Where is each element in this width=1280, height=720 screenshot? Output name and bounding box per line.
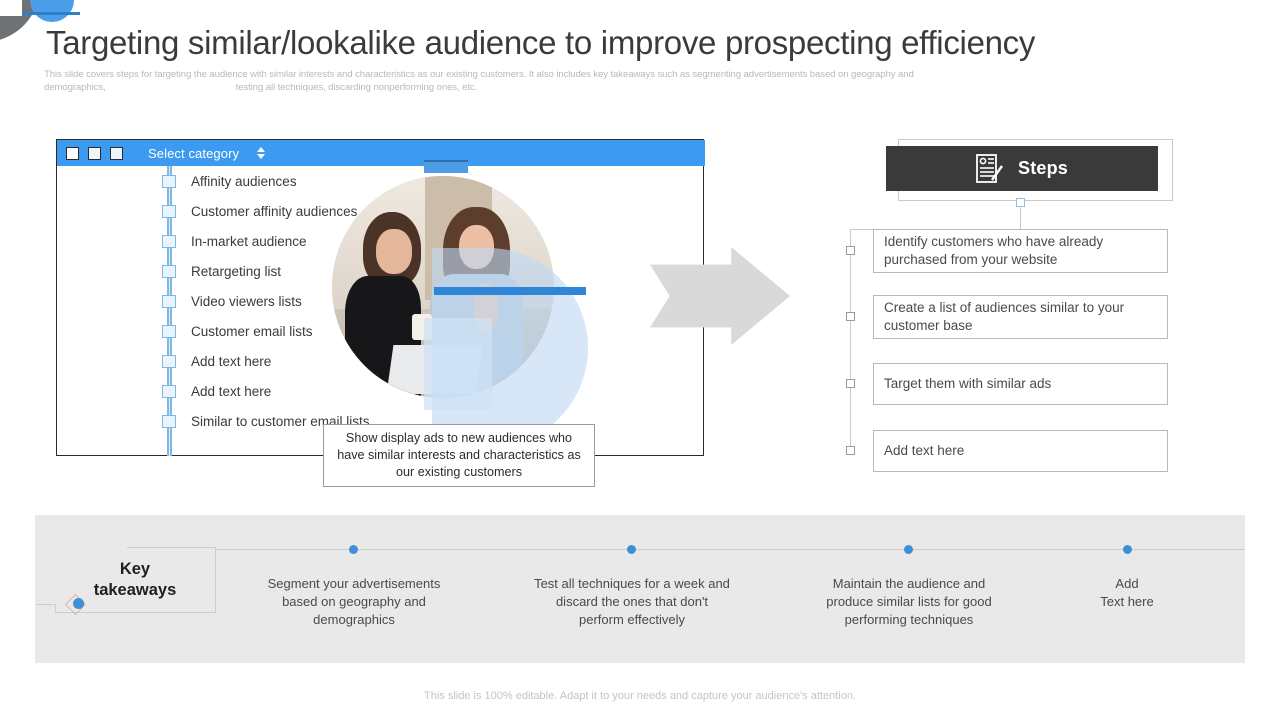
list-item-label: Retargeting list bbox=[191, 264, 281, 279]
kt-badge-line2: takeaways bbox=[94, 581, 177, 599]
list-item-label: Affinity audiences bbox=[191, 174, 297, 189]
kt-frame-right bbox=[215, 547, 216, 612]
checkbox-2[interactable] bbox=[88, 147, 101, 160]
footer-note: This slide is 100% editable. Adapt it to… bbox=[0, 690, 1280, 702]
subtitle-line-1: This slide covers steps for targeting th… bbox=[44, 69, 914, 80]
steps-header: Steps bbox=[886, 146, 1158, 191]
kt-dot bbox=[627, 545, 636, 554]
list-item-checkbox[interactable] bbox=[162, 295, 176, 308]
kt-dot bbox=[349, 545, 358, 554]
list-item-checkbox[interactable] bbox=[162, 265, 176, 278]
checkbox-1[interactable] bbox=[66, 147, 79, 160]
decoration-blue-bar bbox=[22, 12, 80, 15]
step-box[interactable]: Target them with similar ads bbox=[873, 363, 1168, 405]
list-item-checkbox[interactable] bbox=[162, 385, 176, 398]
step-box[interactable]: Add text here bbox=[873, 430, 1168, 472]
list-item-label: Video viewers lists bbox=[191, 294, 302, 309]
list-item-checkbox[interactable] bbox=[162, 325, 176, 338]
steps-connector-spine bbox=[850, 229, 851, 451]
page-title: Targeting similar/lookalike audience to … bbox=[46, 24, 1226, 62]
key-takeaways-badge: Keytakeaways bbox=[55, 547, 215, 612]
kt-dot bbox=[904, 545, 913, 554]
kt-item-text: Maintain the audience and produce simila… bbox=[809, 575, 1009, 629]
steps-connector-drop bbox=[1020, 206, 1021, 230]
checkbox-3[interactable] bbox=[110, 147, 123, 160]
kt-dot bbox=[1123, 545, 1132, 554]
kt-timeline-rail bbox=[216, 549, 1245, 550]
list-item-checkbox[interactable] bbox=[162, 175, 176, 188]
spinner-arrows-icon[interactable] bbox=[256, 146, 266, 160]
category-panel-header[interactable]: Select category bbox=[57, 140, 705, 166]
step-node bbox=[846, 446, 855, 455]
blue-tab-accent bbox=[424, 160, 468, 173]
subtitle-line-2a: demographics, bbox=[44, 82, 106, 93]
kt-item-text: Segment your advertisements based on geo… bbox=[254, 575, 454, 629]
decoration-mask bbox=[0, 0, 22, 16]
step-box[interactable]: Identify customers who have already purc… bbox=[873, 229, 1168, 273]
select-category-label: Select category bbox=[148, 146, 239, 161]
list-item-label: Add text here bbox=[191, 384, 271, 399]
slide-canvas: Targeting similar/lookalike audience to … bbox=[0, 0, 1280, 720]
kt-badge-line1: Key bbox=[120, 560, 150, 578]
list-item-label: In-market audience bbox=[191, 234, 307, 249]
checklist-pencil-icon bbox=[976, 154, 1004, 184]
blue-stripe-accent bbox=[434, 287, 586, 295]
steps-heading: Steps bbox=[1018, 158, 1068, 179]
list-item-label: Customer email lists bbox=[191, 324, 313, 339]
kt-item-text: Test all techniques for a week and disca… bbox=[532, 575, 732, 629]
step-node bbox=[846, 379, 855, 388]
list-item-label: Add text here bbox=[191, 354, 271, 369]
kt-frame-bottom bbox=[55, 612, 216, 613]
subtitle-line-2b: testing all techniques, discarding nonpe… bbox=[236, 82, 478, 93]
kt-item-text: AddText here bbox=[1027, 575, 1227, 611]
step-box[interactable]: Create a list of audiences similar to yo… bbox=[873, 295, 1168, 339]
list-item-checkbox[interactable] bbox=[162, 205, 176, 218]
blue-square-accent bbox=[424, 318, 492, 410]
step-node bbox=[846, 246, 855, 255]
photo-caption: Show display ads to new audiences who ha… bbox=[323, 424, 595, 487]
page-subtitle: This slide covers steps for targeting th… bbox=[44, 68, 1179, 94]
kt-left-line bbox=[36, 604, 56, 605]
step-node bbox=[846, 312, 855, 321]
list-item-checkbox[interactable] bbox=[162, 355, 176, 368]
list-item-checkbox[interactable] bbox=[162, 235, 176, 248]
list-item-checkbox[interactable] bbox=[162, 415, 176, 428]
decoration-blue-circle bbox=[30, 0, 74, 22]
